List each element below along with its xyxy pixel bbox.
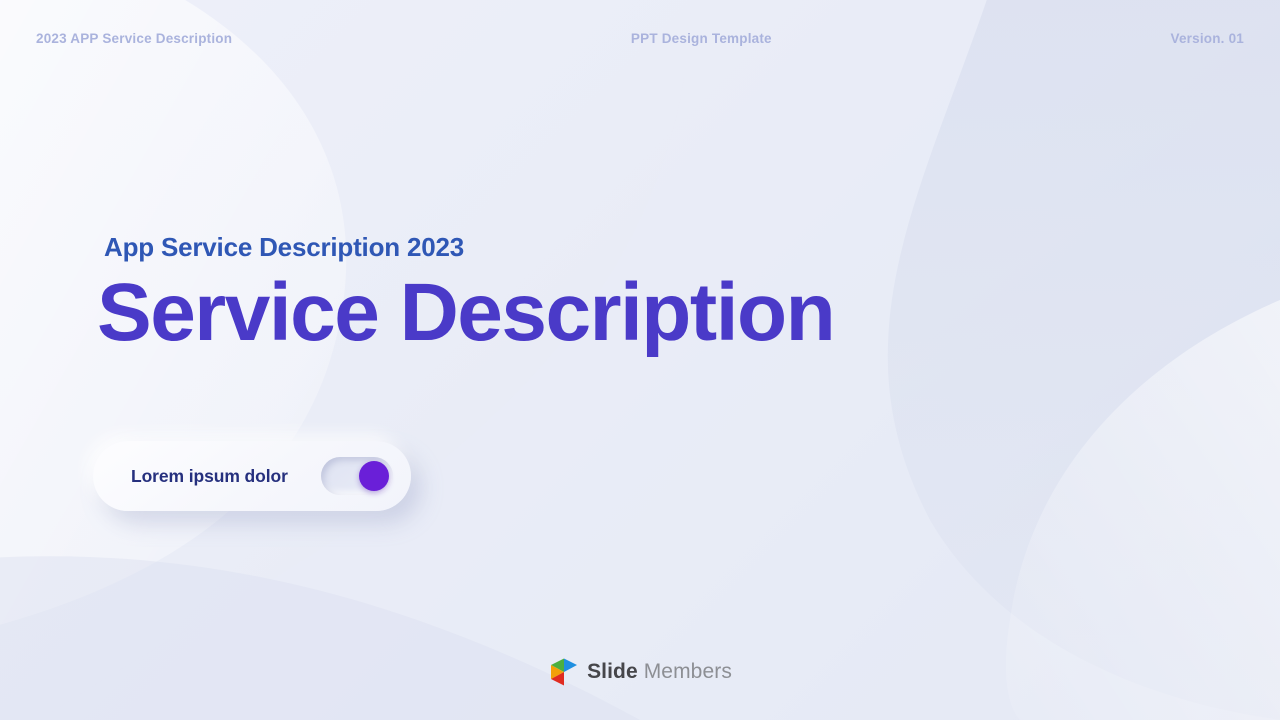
wave-shape-right: [888, 0, 1280, 720]
slide-header: 2023 APP Service Description PPT Design …: [0, 0, 1280, 76]
logo-word-slide: Slide: [587, 660, 638, 683]
wave-shape-center: [40, 0, 1280, 720]
slide-canvas: 2023 APP Service Description PPT Design …: [0, 0, 1280, 720]
slide-eyebrow: App Service Description 2023: [104, 232, 464, 263]
logo-word-members: Members: [638, 660, 732, 683]
header-version-label: Version. 01: [1171, 31, 1245, 46]
footer-logo: Slide Members: [0, 656, 1280, 688]
toggle-knob[interactable]: [359, 461, 389, 491]
slide-title: Service Description: [97, 269, 834, 357]
slidemembers-logo-icon: [548, 656, 580, 688]
header-left-label: 2023 APP Service Description: [36, 31, 232, 46]
background-decoration: [0, 0, 1280, 720]
wave-shape-lower-left: [0, 556, 640, 720]
header-center-label: PPT Design Template: [232, 31, 1170, 46]
toggle-switch[interactable]: [321, 457, 393, 495]
toggle-card[interactable]: Lorem ipsum dolor: [93, 441, 411, 511]
logo-wordmark: Slide Members: [587, 660, 732, 684]
toggle-card-label: Lorem ipsum dolor: [131, 466, 321, 487]
